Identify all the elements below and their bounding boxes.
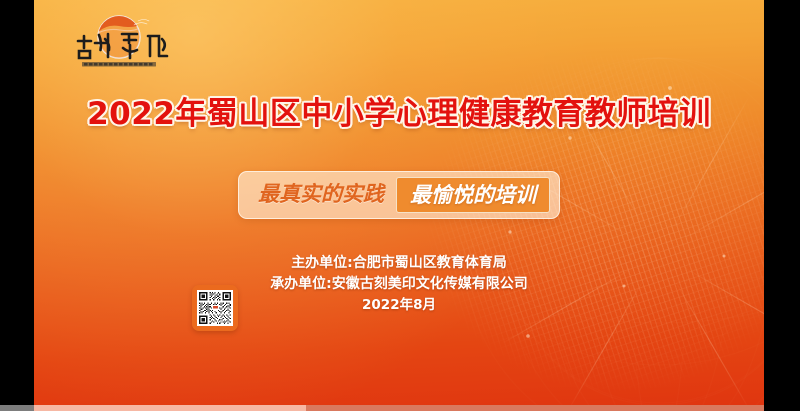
seek-bar-track[interactable] [34,405,764,411]
player-seek-bar[interactable] [0,405,800,411]
subtitle-plaque: 最真实的实践 最愉悦的培训 [238,171,560,219]
seek-bar-played [34,405,306,411]
video-player[interactable]: 2022年蜀山区中小学心理健康教育教师培训 最真实的实践 最愉悦的培训 [0,0,800,411]
letterbox-bar-left [0,0,34,405]
seek-bar-rail-left [0,405,34,411]
organizer-line: 主办单位:合肥市蜀山区教育体育局 [34,253,764,274]
co-organizer-line: 承办单位:安徽古刻美印文化传媒有限公司 [34,274,764,295]
letterbox-bar-right [764,0,800,405]
subtitle-right: 最愉悦的培训 [396,177,550,213]
video-stage: 2022年蜀山区中小学心理健康教育教师培训 最真实的实践 最愉悦的培训 [34,0,764,405]
date-line: 2022年8月 [34,295,764,316]
organizer-block: 主办单位:合肥市蜀山区教育体育局 承办单位:安徽古刻美印文化传媒有限公司 202… [34,253,764,316]
guke-meiyin-seal-logo [60,8,175,76]
subtitle-left: 最真实的实践 [248,177,396,213]
slide-title: 2022年蜀山区中小学心理健康教育教师培训 [34,94,764,134]
